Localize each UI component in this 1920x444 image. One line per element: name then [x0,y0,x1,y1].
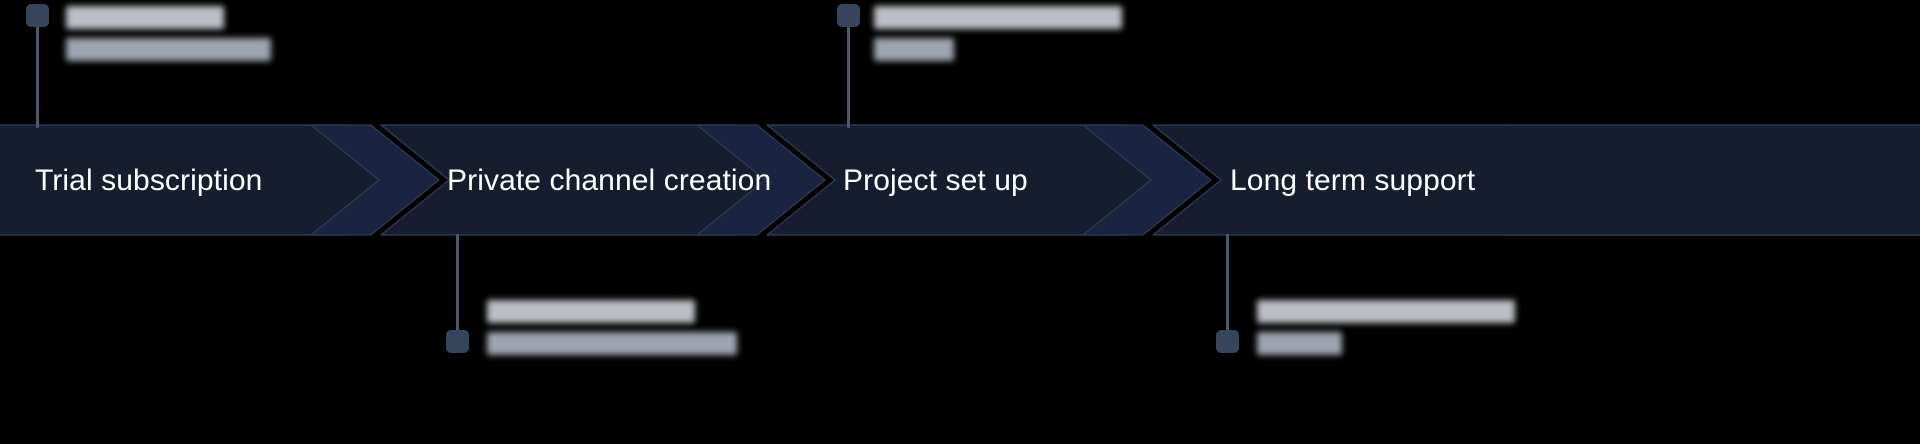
annotation-text [1257,300,1515,355]
chevron-stage-4-tail [1505,125,1920,235]
stage-label-1: Trial subscription [35,166,262,196]
annotation-text [874,6,1122,61]
annotation-line [1257,332,1342,355]
stage-label-4: Long term support [1230,166,1475,196]
connector-line [847,22,850,128]
connector-node [837,4,860,27]
annotation-long-term-support[interactable] [0,232,1800,444]
stage-label-3: Project set up [843,166,1028,196]
annotation-line [1257,300,1515,323]
annotation-line [874,38,954,61]
annotation-project-set-up[interactable] [0,0,1180,130]
stage-label-2: Private channel creation [447,166,771,196]
connector-node [1216,330,1239,353]
connector-line [1226,234,1229,334]
annotation-line [874,6,1122,29]
